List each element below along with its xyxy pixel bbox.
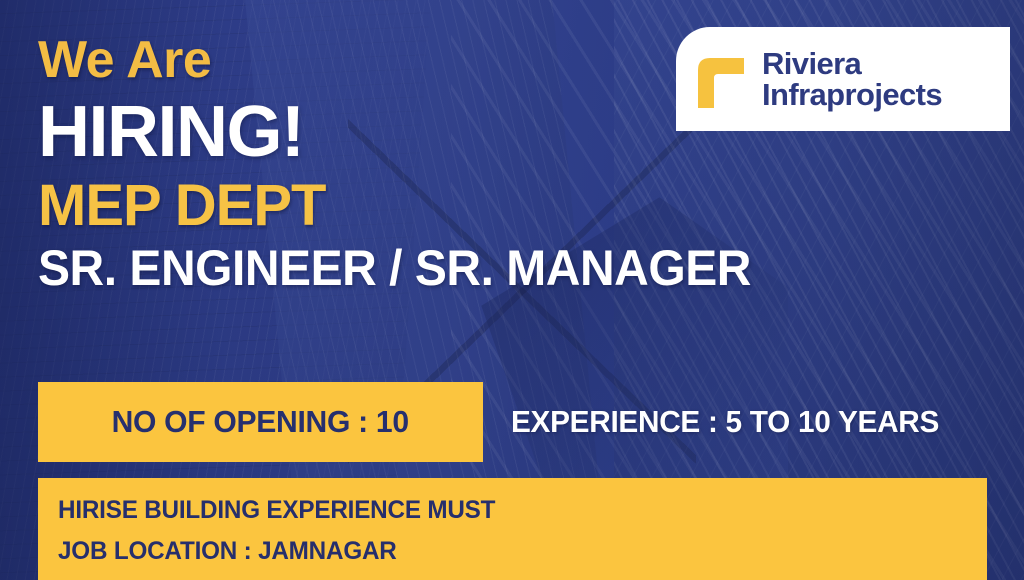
headline-role: SR. ENGINEER / SR. MANAGER — [38, 241, 921, 296]
headline-eyebrow: We Are — [38, 34, 958, 86]
hiring-poster: Riviera Infraprojects We Are HIRING! MEP… — [0, 0, 1024, 580]
experience-block: EXPERIENCE : 5 TO 10 YEARS — [483, 382, 998, 462]
headline-department: MEP DEPT — [38, 176, 958, 237]
headline-block: We Are HIRING! MEP DEPT SR. ENGINEER / S… — [38, 34, 958, 296]
details-bar: HIRISE BUILDING EXPERIENCE MUST JOB LOCA… — [38, 478, 987, 580]
openings-badge: NO OF OPENING : 10 — [38, 382, 483, 462]
requirement-label: HIRISE BUILDING EXPERIENCE MUST — [58, 490, 959, 531]
experience-label: EXPERIENCE : 5 TO 10 YEARS — [511, 404, 939, 440]
openings-label: NO OF OPENING : 10 — [112, 404, 409, 440]
job-location-label: JOB LOCATION : JAMNAGAR — [58, 531, 959, 572]
info-row: NO OF OPENING : 10 EXPERIENCE : 5 TO 10 … — [38, 382, 998, 462]
headline-title: HIRING! — [38, 94, 958, 172]
